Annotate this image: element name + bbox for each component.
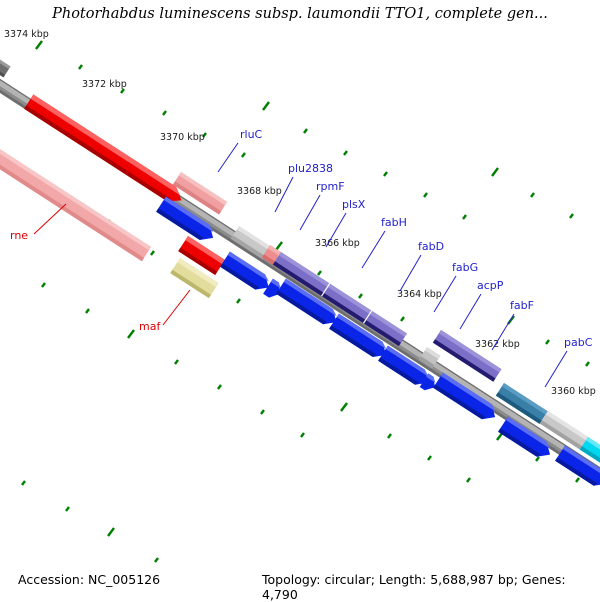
gene-labels[interactable]: rne maf rluC plu2838 rpmF plsX fabH fabD… bbox=[10, 128, 593, 349]
gene-label-acpP[interactable]: acpP bbox=[477, 279, 504, 292]
gene-label-plu2838[interactable]: plu2838 bbox=[288, 162, 333, 175]
axis-tick-label: 3368 kbp bbox=[237, 186, 282, 197]
gene-label-rne[interactable]: rne bbox=[10, 229, 28, 242]
topology-label: Topology: circular; Length: 5,688,987 bp… bbox=[262, 572, 600, 602]
gene-label-plsX[interactable]: plsX bbox=[342, 198, 366, 211]
gene-label-rpmF[interactable]: rpmF bbox=[316, 180, 345, 193]
genome-map-canvas[interactable]: 3374 kbp 3372 kbp 3370 kbp 3368 kbp 3366… bbox=[0, 0, 600, 600]
leader-line-maf bbox=[163, 290, 190, 325]
gene-label-fabH[interactable]: fabH bbox=[381, 216, 407, 229]
gene-label-rluC[interactable]: rluC bbox=[240, 128, 263, 141]
axis-tick-label: 3366 kbp bbox=[315, 238, 360, 249]
tick-marks-lower bbox=[22, 283, 579, 562]
axis-tick-label: 3372 kbp bbox=[82, 79, 127, 90]
axis-tick-label: 3370 kbp bbox=[160, 132, 205, 143]
gene-label-maf[interactable]: maf bbox=[139, 320, 161, 333]
gene-label-fabF[interactable]: fabF bbox=[510, 299, 534, 312]
accession-label: Accession: NC_005126 bbox=[18, 572, 160, 587]
gene-label-fabD[interactable]: fabD bbox=[418, 240, 444, 253]
axis-tick-label: 3374 kbp bbox=[4, 29, 49, 40]
genome-map-viewer: Photorhabdus luminescens subsp. laumondi… bbox=[0, 0, 600, 600]
leader-line-fabH bbox=[362, 231, 385, 268]
leader-line-rpmF bbox=[300, 195, 320, 230]
leader-line-pabC bbox=[545, 351, 567, 387]
tick-marks-upper bbox=[36, 41, 573, 219]
leader-line-rluC bbox=[218, 143, 238, 172]
gene-label-fabG[interactable]: fabG bbox=[452, 261, 478, 274]
leader-line-acpP bbox=[460, 294, 481, 329]
leader-line-fabD bbox=[400, 255, 421, 291]
feature-dark-gray-arrow[interactable] bbox=[0, 48, 11, 77]
gene-label-pabC[interactable]: pabC bbox=[564, 336, 593, 349]
status-bar: Accession: NC_005126 Topology: circular;… bbox=[0, 572, 600, 590]
leader-line-rne bbox=[34, 204, 66, 234]
axis-tick-label: 3360 kbp bbox=[551, 386, 596, 397]
axis-tick-label: 3364 kbp bbox=[397, 289, 442, 300]
